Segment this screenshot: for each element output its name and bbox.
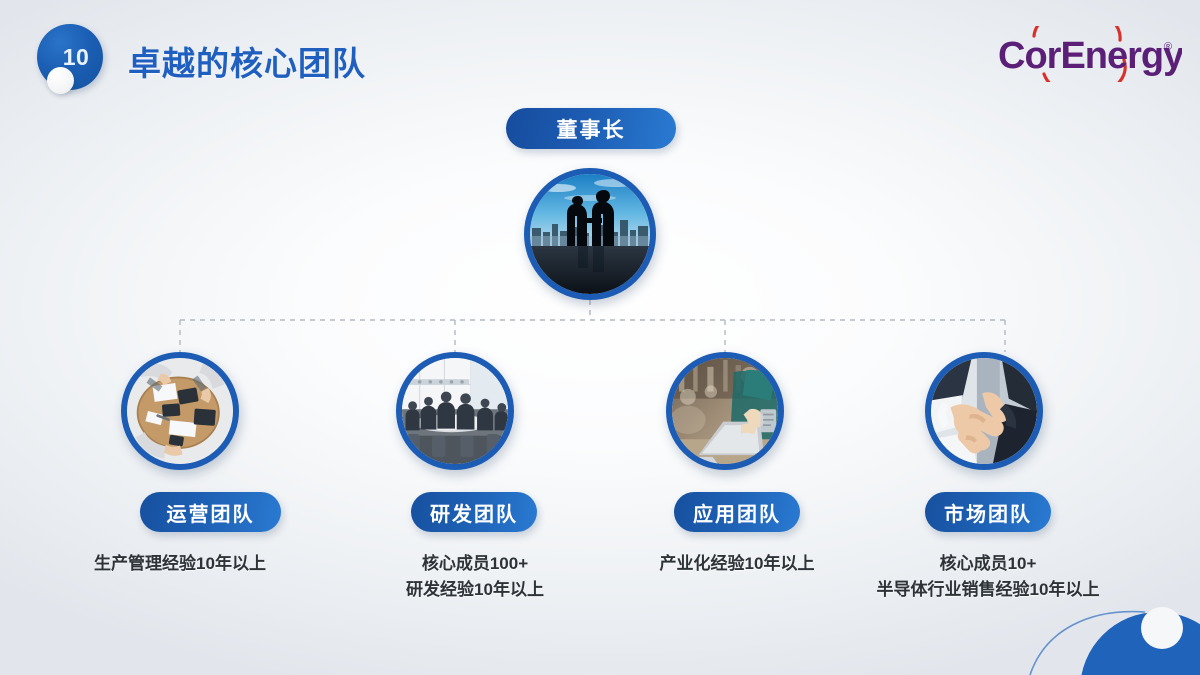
team-photo-1 bbox=[121, 352, 239, 470]
decoration-white-dot-icon bbox=[1141, 607, 1183, 649]
team-4-description: 核心成员10+ 半导体行业销售经验10年以上 bbox=[838, 551, 1138, 604]
svg-text:CorEnergy: CorEnergy bbox=[998, 35, 1182, 77]
team-1-description: 生产管理经验10年以上 bbox=[60, 551, 300, 577]
page-title: 卓越的核心团队 bbox=[128, 37, 366, 85]
conference-room-meeting-photo-icon bbox=[402, 358, 508, 464]
team-2-description: 核心成员100+ 研发经验10年以上 bbox=[355, 551, 595, 604]
node-team-2-label[interactable]: 研发团队 bbox=[411, 492, 537, 532]
svg-text:®: ® bbox=[1164, 41, 1172, 53]
team-3-label-text: 应用团队 bbox=[693, 498, 781, 527]
team-photo-2 bbox=[396, 352, 514, 470]
team-3-description: 产业化经验10年以上 bbox=[617, 551, 857, 577]
handshake-skyline-photo-icon bbox=[530, 174, 650, 294]
team-3-desc-line-1: 产业化经验10年以上 bbox=[617, 551, 857, 577]
corenergy-logo: CorEnergy ® bbox=[992, 26, 1182, 82]
chairman-label-text: 董事长 bbox=[557, 114, 626, 144]
slide-number-text: 10 bbox=[51, 46, 90, 69]
chairman-photo bbox=[524, 168, 656, 300]
team-4-label-text: 市场团队 bbox=[944, 498, 1032, 527]
node-team-3-label[interactable]: 应用团队 bbox=[674, 492, 800, 532]
team-2-label-text: 研发团队 bbox=[430, 498, 518, 527]
overhead-desk-meeting-photo-icon bbox=[127, 358, 233, 464]
team-photo-3 bbox=[666, 352, 784, 470]
slide-number-badge: 10 bbox=[37, 24, 127, 114]
node-team-1-label[interactable]: 运营团队 bbox=[140, 492, 281, 532]
team-photo-4 bbox=[925, 352, 1043, 470]
engineer-laptop-lab-photo-icon bbox=[672, 358, 778, 464]
team-2-desc-line-1: 核心成员100+ bbox=[355, 551, 595, 577]
slide-canvas: 10 卓越的核心团队 CorEnergy ® 董事长 bbox=[0, 0, 1200, 675]
node-team-4-label[interactable]: 市场团队 bbox=[925, 492, 1051, 532]
team-4-desc-line-1: 核心成员10+ bbox=[838, 551, 1138, 577]
decoration-blue-circle bbox=[1080, 612, 1200, 675]
team-1-label-text: 运营团队 bbox=[167, 498, 255, 527]
badge-accent-dot-icon bbox=[47, 67, 74, 94]
team-1-desc-line-1: 生产管理经验10年以上 bbox=[60, 551, 300, 577]
node-chairman-label[interactable]: 董事长 bbox=[506, 108, 676, 149]
corenergy-logo-icon: CorEnergy ® bbox=[992, 26, 1182, 82]
team-2-desc-line-2: 研发经验10年以上 bbox=[355, 577, 595, 603]
team-4-desc-line-2: 半导体行业销售经验10年以上 bbox=[838, 577, 1138, 603]
business-handshake-photo-icon bbox=[931, 358, 1037, 464]
